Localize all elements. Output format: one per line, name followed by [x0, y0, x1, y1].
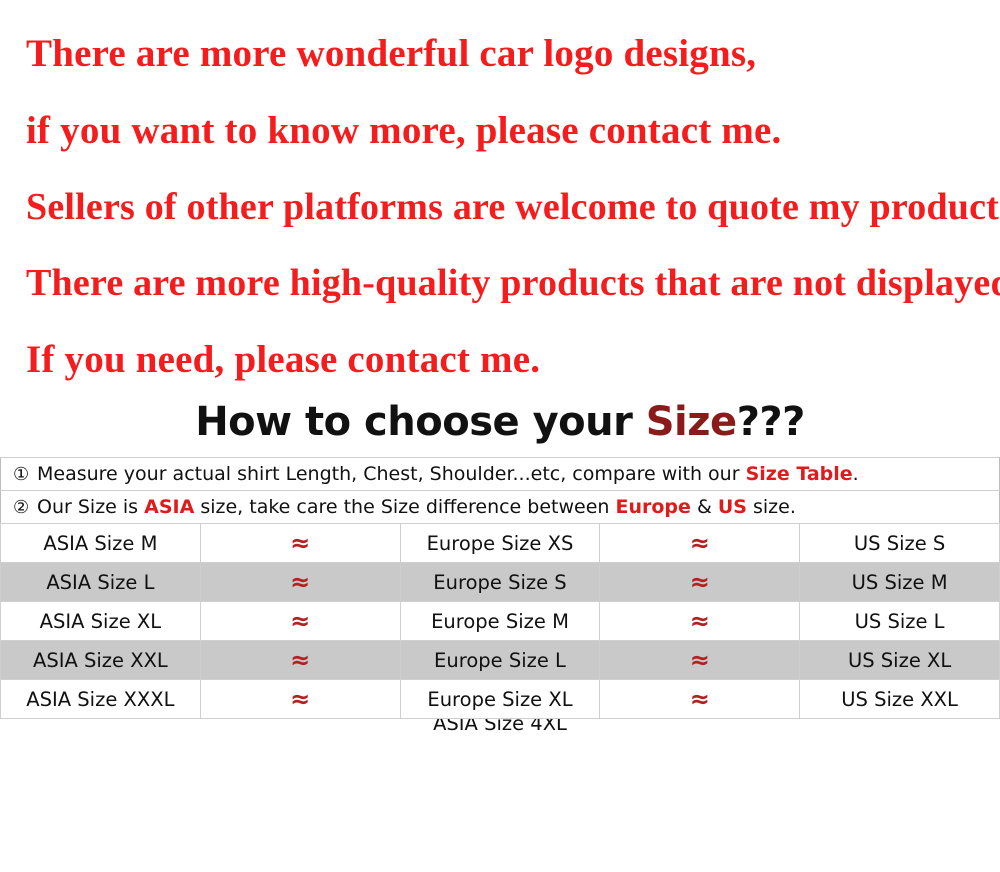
- approx-icon: ≈: [290, 685, 310, 713]
- note-highlight: ASIA: [144, 496, 194, 518]
- cell-approx-2: ≈: [600, 602, 800, 641]
- promo-line-5: If you need, please contact me.: [0, 340, 1000, 379]
- cell-approx-2: ≈: [600, 641, 800, 680]
- howto-question-marks: ???: [737, 399, 805, 445]
- cell-approx-1: ≈: [200, 641, 400, 680]
- howto-heading: How to choose your Size???: [0, 399, 1000, 445]
- promo-line-1: There are more wonderful car logo design…: [0, 34, 1000, 73]
- note-segment: &: [691, 496, 718, 518]
- approx-icon: ≈: [690, 529, 710, 557]
- note-highlight: Size Table: [746, 463, 853, 485]
- promo-line-2: if you want to know more, please contact…: [0, 111, 1000, 150]
- cell-europe-size: Europe Size XS: [400, 524, 600, 563]
- table-row: ASIA Size XL≈Europe Size M≈US Size L: [1, 602, 1000, 641]
- note-highlight: US: [718, 496, 747, 518]
- cell-us-size: US Size L: [800, 602, 1000, 641]
- approx-icon: ≈: [290, 607, 310, 635]
- note-segment: size.: [747, 496, 796, 518]
- note-text-1: Measure your actual shirt Length, Chest,…: [37, 463, 859, 485]
- cell-europe-size: Europe Size S: [400, 563, 600, 602]
- note-segment: Our Size is: [37, 496, 144, 518]
- approx-icon: ≈: [690, 685, 710, 713]
- cell-asia-size: ASIA Size XL: [1, 602, 201, 641]
- note-segment: .: [853, 463, 859, 485]
- cell-asia-size: ASIA Size XXL: [1, 641, 201, 680]
- size-table-body: ①Measure your actual shirt Length, Chest…: [1, 458, 1000, 524]
- note-text-2: Our Size is ASIA size, take care the Siz…: [37, 496, 796, 518]
- approx-icon: ≈: [690, 607, 710, 635]
- table-row: ASIA Size L≈Europe Size S≈US Size M: [1, 563, 1000, 602]
- cell-asia-size: ASIA Size XXXL: [1, 680, 201, 719]
- promo-line-4: There are more high-quality products tha…: [0, 264, 1000, 302]
- cell-approx-1: ≈: [200, 680, 400, 719]
- approx-icon: ≈: [290, 529, 310, 557]
- howto-prefix: How to choose your: [195, 399, 646, 445]
- note-marker-2: ②: [13, 497, 37, 518]
- cell-europe-size: Europe Size M: [400, 602, 600, 641]
- cell-europe-size: Europe Size XL: [400, 680, 600, 719]
- cell-us-size: US Size M: [800, 563, 1000, 602]
- cell-asia-size: ASIA Size M: [1, 524, 201, 563]
- promo-line-3: Sellers of other platforms are welcome t…: [0, 188, 1000, 226]
- cell-us-size: US Size XL: [800, 641, 1000, 680]
- approx-icon: ≈: [690, 646, 710, 674]
- table-note-row-1: ①Measure your actual shirt Length, Chest…: [1, 458, 1000, 491]
- table-row: ASIA Size M≈Europe Size XS≈US Size S: [1, 524, 1000, 563]
- table-row: ASIA Size XXL≈Europe Size L≈US Size XL: [1, 641, 1000, 680]
- size-table: ①Measure your actual shirt Length, Chest…: [0, 457, 1000, 719]
- bottom-partial-text: ASIA Size 4XL: [0, 719, 1000, 733]
- promo-block: There are more wonderful car logo design…: [0, 0, 1000, 379]
- approx-icon: ≈: [690, 568, 710, 596]
- cell-asia-size: ASIA Size L: [1, 563, 201, 602]
- note-cell-2: ②Our Size is ASIA size, take care the Si…: [1, 491, 1000, 524]
- size-rows-body: ASIA Size M≈Europe Size XS≈US Size SASIA…: [1, 524, 1000, 719]
- cell-approx-1: ≈: [200, 602, 400, 641]
- note-segment: size, take care the Size difference betw…: [194, 496, 615, 518]
- approx-icon: ≈: [290, 646, 310, 674]
- note-marker-1: ①: [13, 464, 37, 485]
- approx-icon: ≈: [290, 568, 310, 596]
- table-bottom-partial-row: ASIA Size 4XL: [0, 719, 1000, 733]
- note-highlight: Europe: [615, 496, 690, 518]
- note-cell-1: ①Measure your actual shirt Length, Chest…: [1, 458, 1000, 491]
- howto-size-word: Size: [646, 399, 737, 445]
- note-segment: Measure your actual shirt Length, Chest,…: [37, 463, 746, 485]
- cell-approx-1: ≈: [200, 524, 400, 563]
- cell-europe-size: Europe Size L: [400, 641, 600, 680]
- cell-approx-2: ≈: [600, 680, 800, 719]
- table-row: ASIA Size XXXL≈Europe Size XL≈US Size XX…: [1, 680, 1000, 719]
- cell-approx-2: ≈: [600, 563, 800, 602]
- cell-us-size: US Size XXL: [800, 680, 1000, 719]
- cell-approx-1: ≈: [200, 563, 400, 602]
- cell-us-size: US Size S: [800, 524, 1000, 563]
- cell-approx-2: ≈: [600, 524, 800, 563]
- table-note-row-2: ②Our Size is ASIA size, take care the Si…: [1, 491, 1000, 524]
